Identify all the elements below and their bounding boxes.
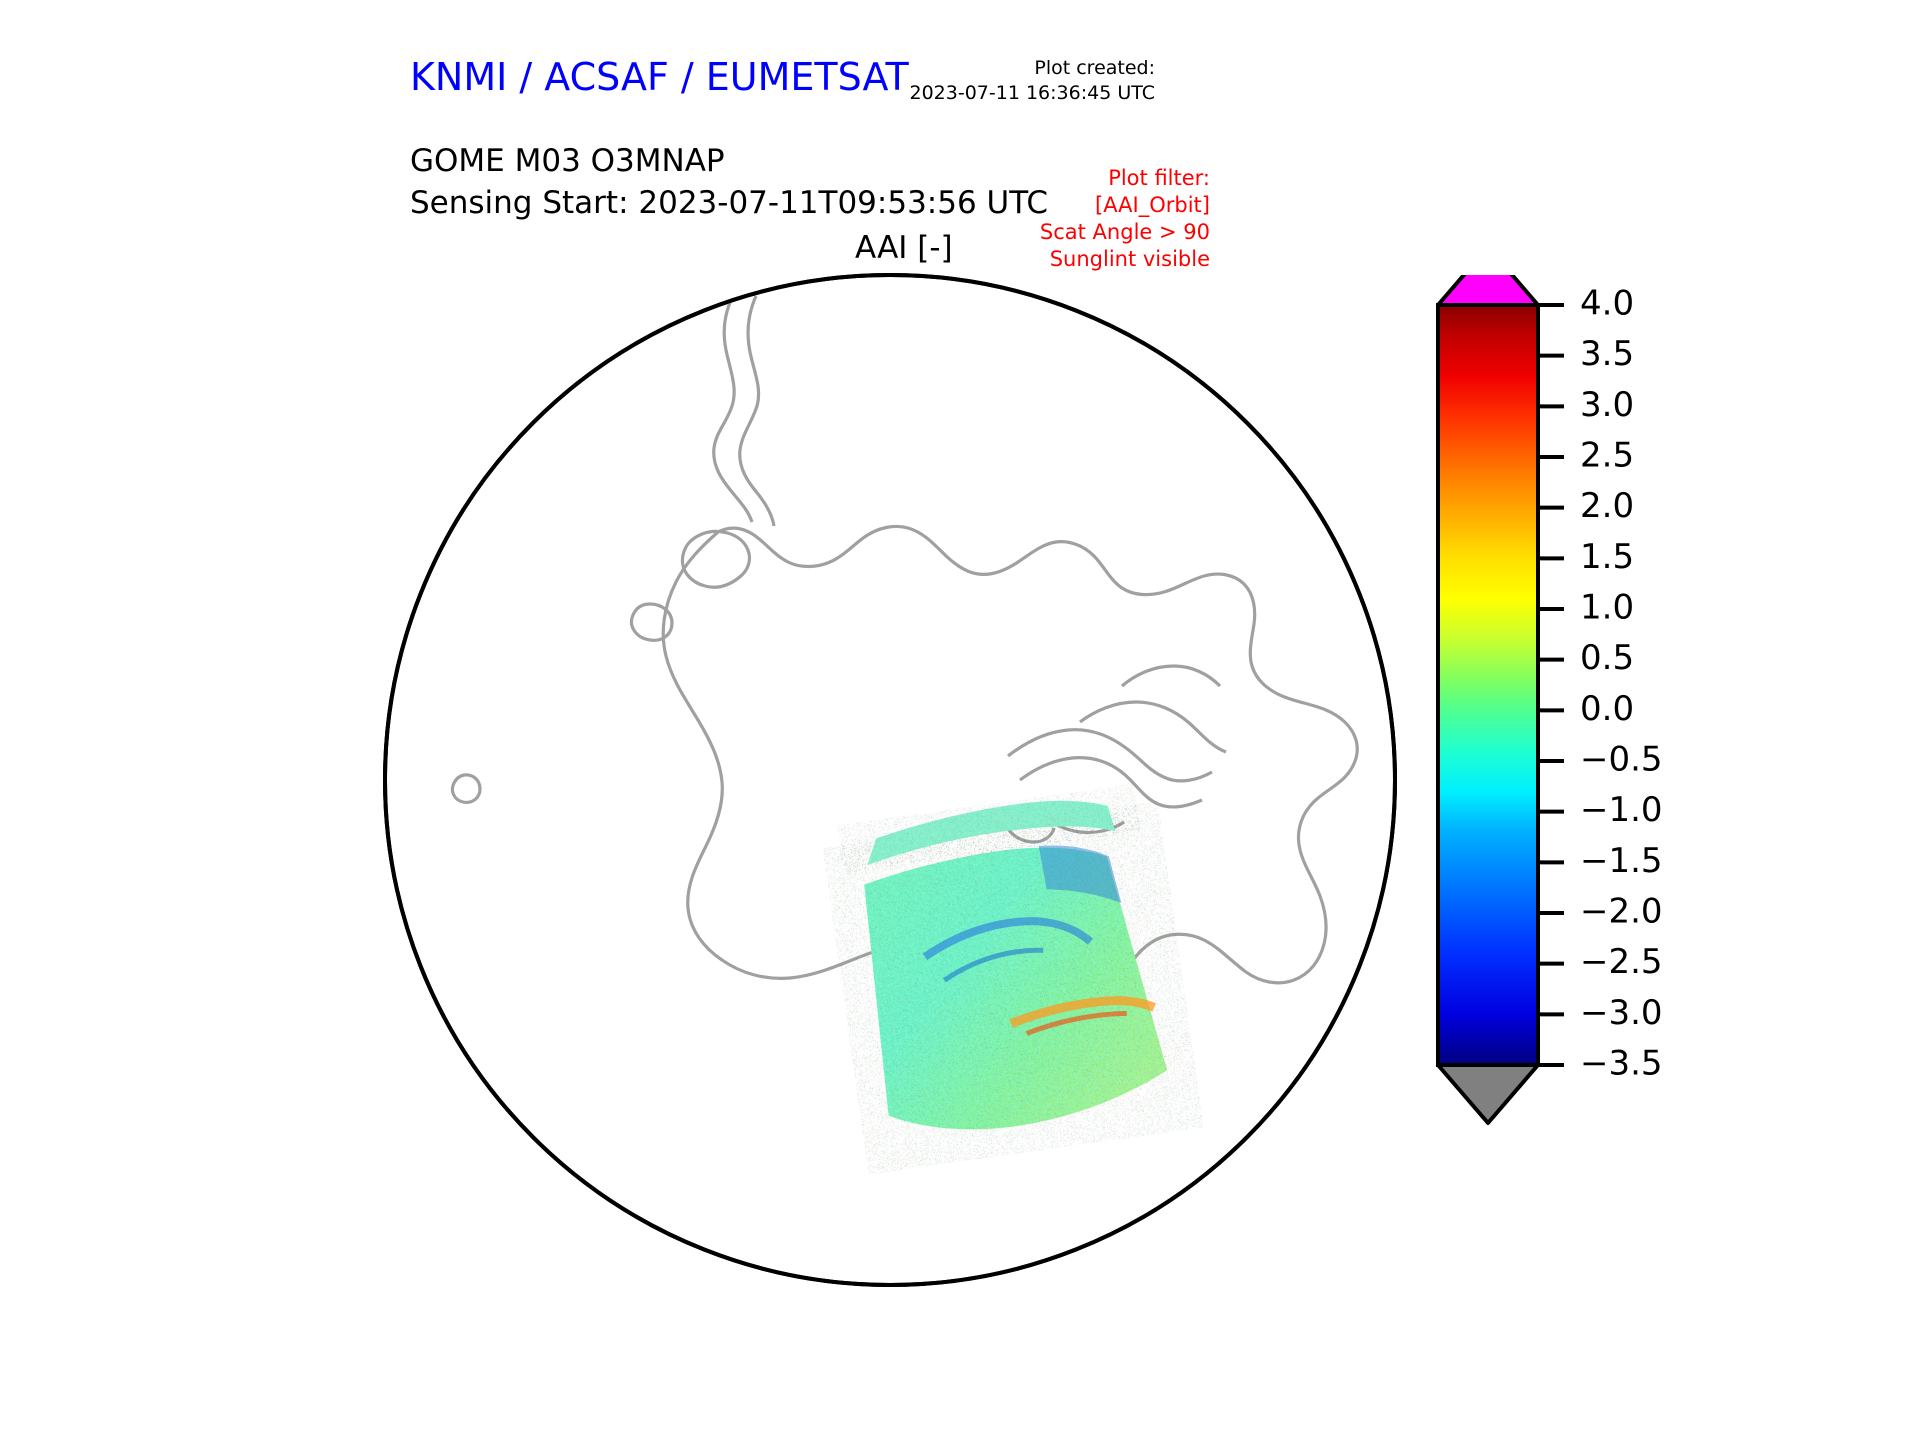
map-limb-circle (385, 275, 1395, 1285)
colorbar-tick-label: 1.5 (1580, 537, 1634, 577)
plot-created-block: Plot created: 2023-07-11 16:36:45 UTC (910, 56, 1156, 106)
product-info-block: GOME M03 O3MNAP Sensing Start: 2023-07-1… (410, 140, 1048, 224)
plot-created-value: 2023-07-11 16:36:45 UTC (910, 81, 1156, 106)
colorbar: 4.03.53.02.52.01.51.00.50.0−0.5−1.0−1.5−… (1430, 275, 1860, 1315)
plot-filter-line-2: Scat Angle > 90 (1040, 219, 1210, 246)
plot-filter-line-1: [AAI_Orbit] (1040, 192, 1210, 219)
quantity-title: AAI [-] (855, 230, 953, 266)
colorbar-ticks: 4.03.53.02.52.01.51.00.50.0−0.5−1.0−1.5−… (1538, 284, 1663, 1084)
product-name: GOME M03 O3MNAP (410, 140, 1048, 182)
map-plot-area (380, 270, 1440, 1300)
colorbar-tick-label: 0.5 (1580, 638, 1634, 678)
sensing-start: Sensing Start: 2023-07-11T09:53:56 UTC (410, 182, 1048, 224)
plot-canvas: KNMI / ACSAF / EUMETSAT Plot created: 20… (0, 0, 1920, 1440)
page-title: KNMI / ACSAF / EUMETSAT (410, 55, 909, 99)
polar-stereographic-map (380, 270, 1440, 1300)
colorbar-over-arrow-shape (1438, 275, 1538, 305)
colorbar-svg: 4.03.53.02.52.01.51.00.50.0−0.5−1.0−1.5−… (1430, 275, 1860, 1315)
colorbar-tick-label: −0.5 (1580, 740, 1663, 780)
colorbar-tick-label: −1.5 (1580, 841, 1663, 881)
plot-filter-label: Plot filter: (1040, 165, 1210, 192)
colorbar-under-arrow (1438, 1065, 1538, 1123)
colorbar-tick-label: 3.5 (1580, 334, 1634, 374)
colorbar-tick-label: 2.0 (1580, 486, 1634, 526)
colorbar-tick-label: 1.0 (1580, 588, 1634, 628)
colorbar-tick-label: 0.0 (1580, 689, 1634, 729)
colorbar-tick-label: −3.5 (1580, 1044, 1663, 1084)
colorbar-tick-label: −3.0 (1580, 993, 1663, 1033)
colorbar-gradient (1438, 305, 1538, 1065)
plot-filter-block: Plot filter: [AAI_Orbit] Scat Angle > 90… (1040, 165, 1210, 273)
colorbar-tick-label: −1.0 (1580, 790, 1663, 830)
colorbar-tick-label: −2.0 (1580, 892, 1663, 932)
colorbar-tick-label: 4.0 (1580, 284, 1634, 324)
plot-filter-line-3: Sunglint visible (1040, 246, 1210, 273)
colorbar-tick-label: −2.5 (1580, 942, 1663, 982)
colorbar-tick-label: 3.0 (1580, 385, 1634, 425)
plot-created-label: Plot created: (910, 56, 1156, 81)
colorbar-tick-label: 2.5 (1580, 436, 1634, 476)
